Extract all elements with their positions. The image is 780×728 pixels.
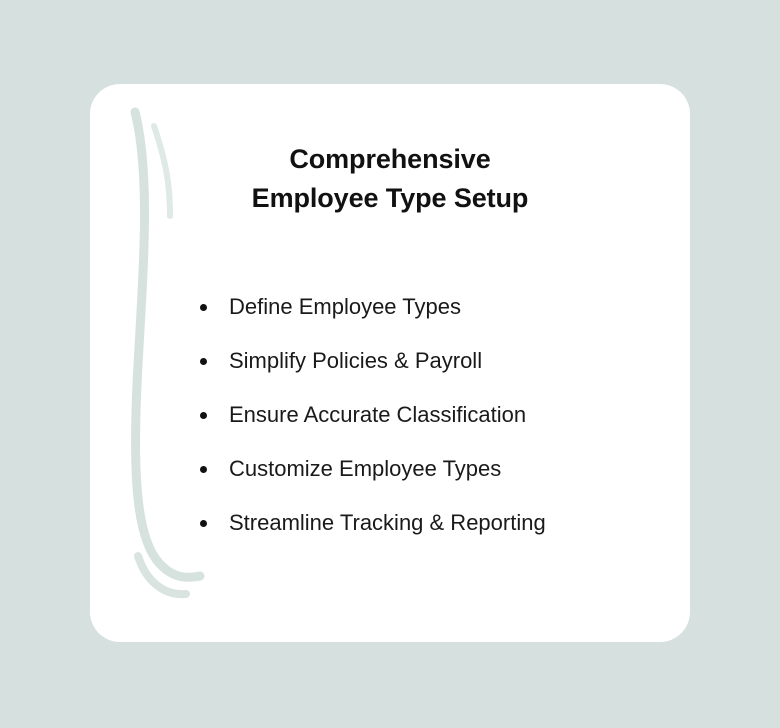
list-item: Streamline Tracking & Reporting [200, 496, 670, 550]
list-item: Simplify Policies & Payroll [200, 334, 670, 388]
page-title: Comprehensive Employee Type Setup [90, 140, 690, 218]
list-item: Customize Employee Types [200, 442, 670, 496]
list-item: Define Employee Types [200, 280, 670, 334]
list-item-label: Streamline Tracking & Reporting [229, 496, 546, 550]
bullet-dot-icon [200, 304, 207, 311]
short-lower-curve-stroke [138, 556, 186, 594]
bullet-dot-icon [200, 466, 207, 473]
page-title-line-1: Comprehensive [90, 140, 690, 179]
list-item-label: Customize Employee Types [229, 442, 501, 496]
feature-bullet-list: Define Employee Types Simplify Policies … [200, 280, 670, 550]
bullet-dot-icon [200, 358, 207, 365]
bullet-dot-icon [200, 520, 207, 527]
slide-canvas: Comprehensive Employee Type Setup Define… [0, 0, 780, 728]
list-item: Ensure Accurate Classification [200, 388, 670, 442]
bullet-dot-icon [200, 412, 207, 419]
list-item-label: Ensure Accurate Classification [229, 388, 526, 442]
list-item-label: Define Employee Types [229, 280, 461, 334]
content-card: Comprehensive Employee Type Setup Define… [90, 84, 690, 642]
page-title-line-2: Employee Type Setup [90, 179, 690, 218]
list-item-label: Simplify Policies & Payroll [229, 334, 482, 388]
